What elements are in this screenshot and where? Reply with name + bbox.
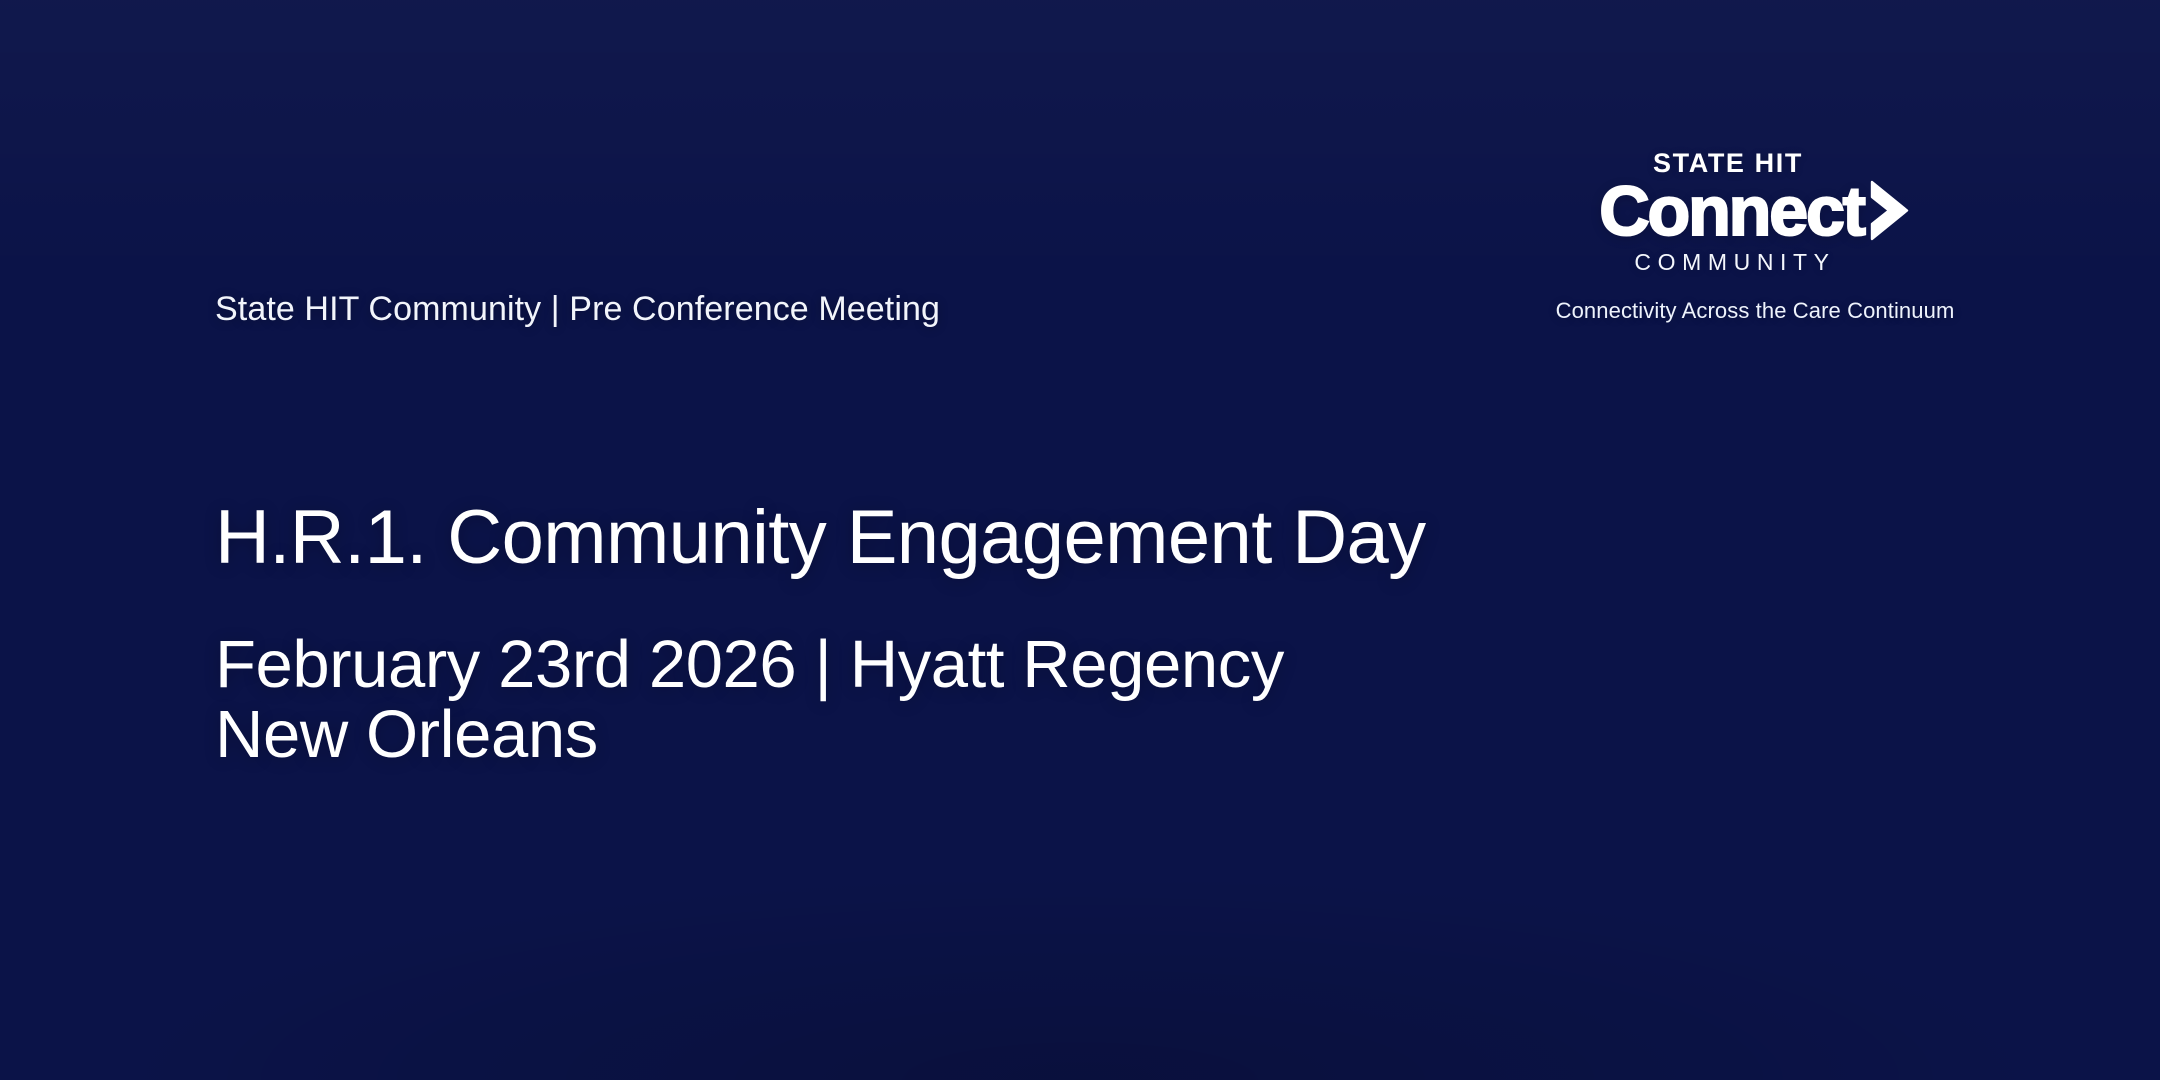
state-hit-connect-logo: STATE HIT Connect COMMUNITY Connectivity… bbox=[1555, 150, 1955, 322]
banner-eyebrow: State HIT Community | Pre Conference Mee… bbox=[215, 290, 940, 329]
logo-sub-text: COMMUNITY bbox=[1555, 251, 1955, 274]
event-details: February 23rd 2026 | Hyatt Regency New O… bbox=[215, 630, 1284, 769]
page-title: H.R.1. Community Engagement Day bbox=[215, 494, 1426, 581]
event-date-venue-line: February 23rd 2026 | Hyatt Regency bbox=[215, 630, 1284, 700]
event-city-line: New Orleans bbox=[215, 700, 1284, 770]
logo-wordmark-row: Connect bbox=[1555, 179, 1955, 245]
chevron-right-icon bbox=[1867, 180, 1911, 242]
logo-wordmark: Connect bbox=[1599, 179, 1864, 245]
logo-tagline: Connectivity Across the Care Continuum bbox=[1555, 300, 1955, 322]
event-banner-slide: State HIT Community | Pre Conference Mee… bbox=[0, 0, 2160, 1080]
banner-content: State HIT Community | Pre Conference Mee… bbox=[0, 0, 2160, 1080]
